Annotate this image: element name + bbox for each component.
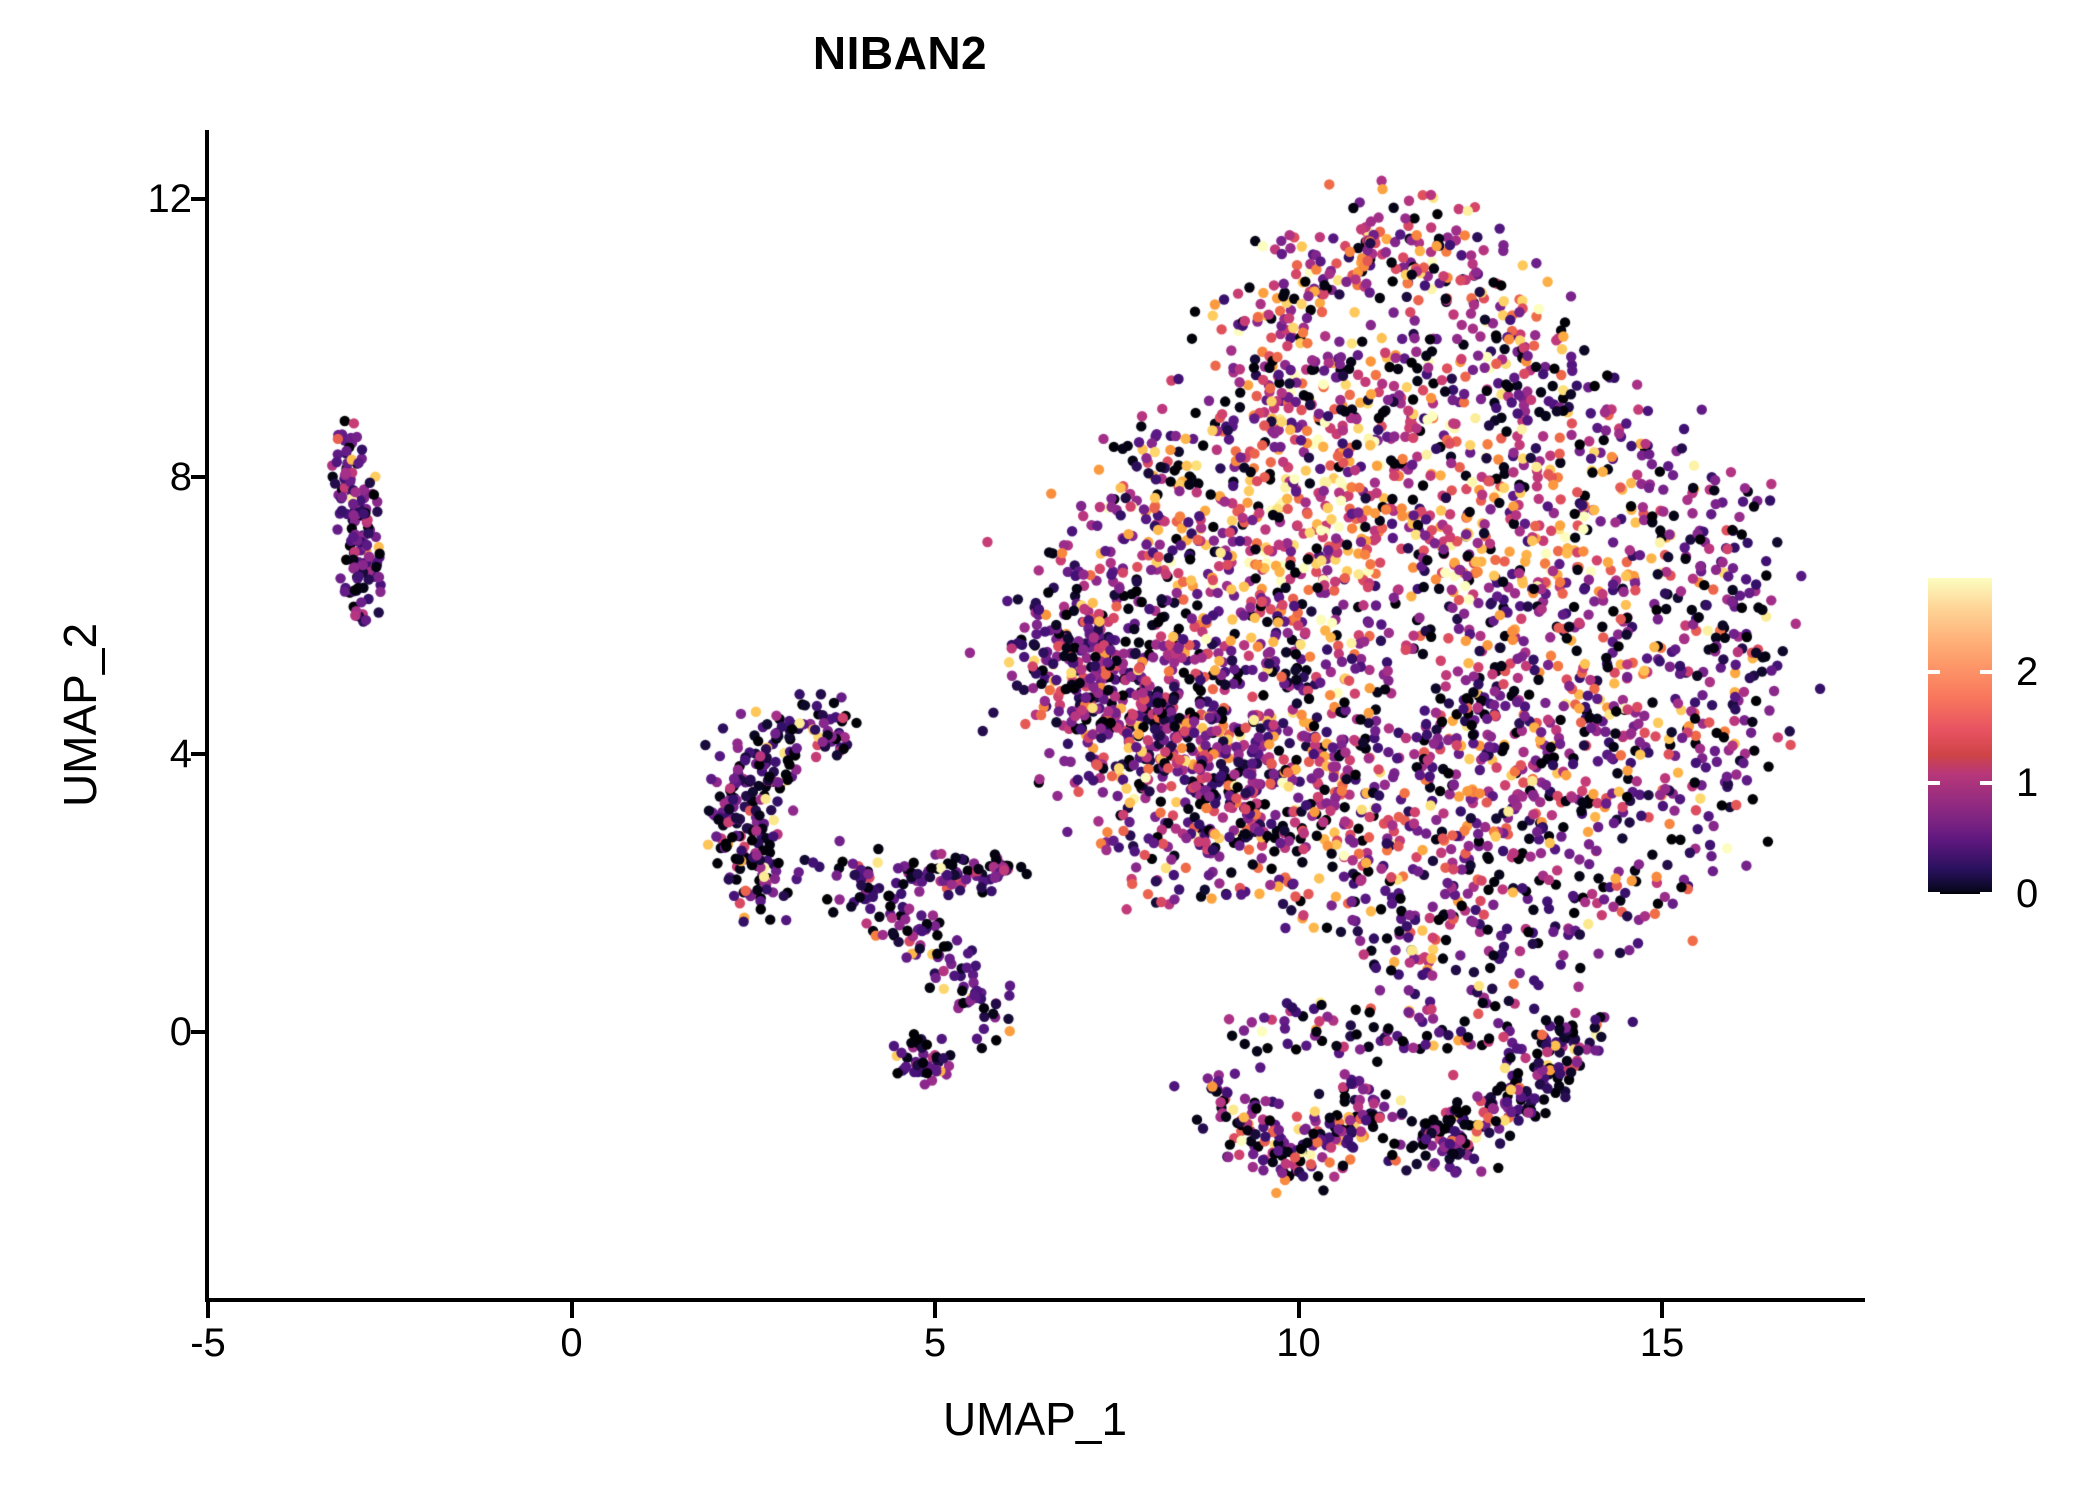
x-axis-line [205, 1298, 1865, 1302]
x-tick-mark [1297, 1302, 1301, 1318]
umap-feature-plot: NIBAN2 04812 -5051015 UMAP_1 UMAP_2 012 [0, 0, 2100, 1500]
y-tick-mark [191, 752, 205, 756]
colorbar-gradient [1928, 578, 1992, 894]
scatter-plot-canvas [0, 0, 2100, 1500]
x-tick-label: 10 [1239, 1322, 1359, 1364]
colorbar-tick-label: 1 [2016, 763, 2038, 803]
x-tick-mark [206, 1302, 210, 1318]
colorbar-tick-mark [1928, 892, 1940, 896]
colorbar-tick-mark [1980, 892, 1992, 896]
y-tick-label: 8 [170, 457, 192, 497]
colorbar-legend [1928, 578, 1992, 894]
colorbar-tick-mark [1980, 781, 1992, 785]
y-tick-mark [191, 475, 205, 479]
x-tick-label: 5 [875, 1322, 995, 1364]
y-tick-label: 12 [148, 179, 193, 219]
y-axis-line [205, 130, 209, 1302]
x-tick-label: -5 [148, 1322, 268, 1364]
x-tick-label: 15 [1602, 1322, 1722, 1364]
x-tick-mark [933, 1302, 937, 1318]
colorbar-tick-label: 0 [2016, 874, 2038, 914]
y-axis-title: UMAP_2 [55, 405, 105, 1025]
colorbar-tick-mark [1928, 781, 1940, 785]
y-tick-label: 4 [170, 734, 192, 774]
x-tick-label: 0 [512, 1322, 632, 1364]
y-tick-mark [191, 1030, 205, 1034]
x-axis-title: UMAP_1 [205, 1394, 1865, 1444]
colorbar-tick-mark [1928, 670, 1940, 674]
colorbar-tick-label: 2 [2016, 652, 2038, 692]
x-tick-mark [1660, 1302, 1664, 1318]
x-tick-mark [570, 1302, 574, 1318]
colorbar-tick-mark [1980, 670, 1992, 674]
y-tick-mark [191, 197, 205, 201]
y-tick-label: 0 [170, 1012, 192, 1052]
